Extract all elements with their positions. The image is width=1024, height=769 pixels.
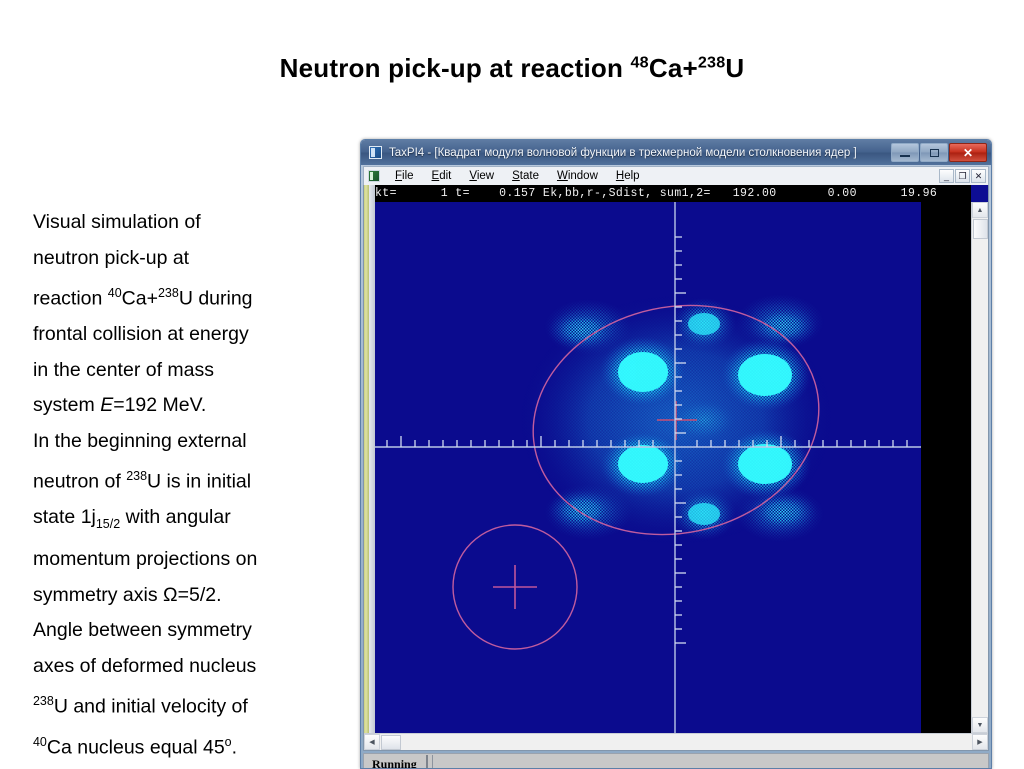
menu-item-file[interactable]: File (386, 168, 423, 185)
mdi-minimize-button[interactable]: _ (939, 169, 954, 183)
scroll-up-arrow[interactable]: ▲ (972, 202, 988, 218)
desc-l9-a: state 1j (33, 506, 96, 528)
mdi-control-buttons: _ ❐ ✕ (938, 169, 988, 183)
desc-l8-sup-238: 238 (126, 469, 147, 483)
wavefunction-svg (375, 202, 921, 733)
page-title: Neutron pick-up at reaction 48Ca+238U (0, 53, 1024, 84)
description-line-10: momentum projections on (33, 542, 343, 578)
title-text-main: Neutron pick-up at reaction (280, 53, 631, 83)
mdi-close-button[interactable]: ✕ (971, 169, 986, 183)
title-superscript-238: 238 (698, 53, 725, 71)
desc-l3-b: Ca+ (122, 288, 158, 310)
description-line-5: in the center of mass (33, 353, 343, 389)
minimize-button[interactable] (891, 143, 919, 162)
maximize-button[interactable] (920, 143, 948, 162)
document-icon (368, 170, 380, 182)
desc-l14-b: U and initial velocity of (54, 696, 248, 718)
desc-energy-symbol: E (100, 394, 113, 416)
description-line-11: symmetry axis Ω=5/2. (33, 578, 343, 614)
vertical-scroll-thumb[interactable] (973, 219, 988, 239)
slide-root: Neutron pick-up at reaction 48Ca+238U Vi… (0, 0, 1024, 768)
application-window: TaxPI4 - [Квадрат модуля волновой функци… (360, 139, 992, 769)
description-line-7: In the beginning external (33, 424, 343, 460)
description-line-1: Visual simulation of (33, 205, 343, 241)
status-bar-filler (432, 755, 985, 769)
menu-item-state[interactable]: State (503, 168, 548, 185)
title-text-mid: Ca+ (649, 53, 698, 83)
description-line-12: Angle between symmetry (33, 613, 343, 649)
title-superscript-48: 48 (631, 53, 649, 71)
scroll-right-arrow[interactable]: ▶ (972, 734, 988, 750)
desc-l3-sup-238: 238 (158, 286, 179, 300)
desc-l9-sub: 15/2 (96, 517, 120, 531)
window-title: TaxPI4 - [Квадрат модуля волновой функци… (389, 147, 890, 159)
desc-l6-b: =192 MeV. (113, 394, 206, 416)
description-line-6: system E=192 MeV. (33, 388, 343, 424)
horizontal-scrollbar[interactable]: ◀ ▶ (364, 733, 988, 750)
horizontal-scroll-thumb[interactable] (381, 735, 401, 750)
menu-item-window[interactable]: Window (548, 168, 607, 185)
menu-item-view[interactable]: View (460, 168, 503, 185)
desc-l15-b: Ca nucleus equal 45 (47, 737, 225, 759)
desc-l14-sup-238: 238 (33, 694, 54, 708)
description-line-15: 40Ca nucleus equal 45o. (33, 725, 343, 766)
desc-l15-c: . (232, 737, 237, 759)
title-text-end: U (725, 53, 744, 83)
description-line-8: neutron of 238U is in initial (33, 459, 343, 500)
description-line-2: neutron pick-up at (33, 241, 343, 277)
simulation-info-line: kt= 1 t= 0.157 Ek,bb,r-,Sdist, sum1,2= 1… (375, 185, 971, 202)
description-line-13: axes of deformed nucleus (33, 649, 343, 685)
menu-item-help[interactable]: Help (607, 168, 649, 185)
status-bar: Running (363, 753, 989, 769)
desc-l6-a: system (33, 394, 100, 416)
window-control-buttons: ✕ (890, 143, 987, 162)
desc-l8-b: U is in initial (147, 471, 251, 493)
simulation-canvas[interactable] (375, 202, 971, 733)
mdi-client-area: kt= 1 t= 0.157 Ek,bb,r-,Sdist, sum1,2= 1… (363, 185, 989, 751)
description-line-9: state 1j15/2 with angular (33, 500, 343, 542)
desc-l15-degree: o (225, 735, 232, 749)
desc-l3-c: U during (179, 288, 253, 310)
desc-l9-b: with angular (120, 506, 231, 528)
vertical-scrollbar[interactable]: ▲ ▼ (971, 202, 988, 733)
desc-l8-a: neutron of (33, 471, 126, 493)
desc-l3-sup-40: 40 (108, 286, 122, 300)
mdi-restore-button[interactable]: ❐ (955, 169, 970, 183)
scroll-down-arrow[interactable]: ▼ (972, 717, 988, 733)
description-text: Visual simulation of neutron pick-up at … (33, 205, 343, 766)
description-line-3: reaction 40Ca+238U during (33, 276, 343, 317)
application-icon (369, 146, 382, 159)
scroll-left-arrow[interactable]: ◀ (364, 734, 380, 750)
desc-l3-a: reaction (33, 288, 108, 310)
status-badge: Running (366, 755, 428, 769)
description-line-4: frontal collision at energy (33, 317, 343, 353)
menu-bar: File Edit View State Window Help _ ❐ ✕ (363, 166, 989, 185)
window-titlebar: TaxPI4 - [Квадрат модуля волновой функци… (361, 140, 991, 165)
wavefunction-plot (375, 202, 921, 733)
menu-item-edit[interactable]: Edit (423, 168, 461, 185)
description-line-14: 238U and initial velocity of (33, 684, 343, 725)
desc-l15-sup-40: 40 (33, 735, 47, 749)
close-button[interactable]: ✕ (949, 143, 987, 162)
